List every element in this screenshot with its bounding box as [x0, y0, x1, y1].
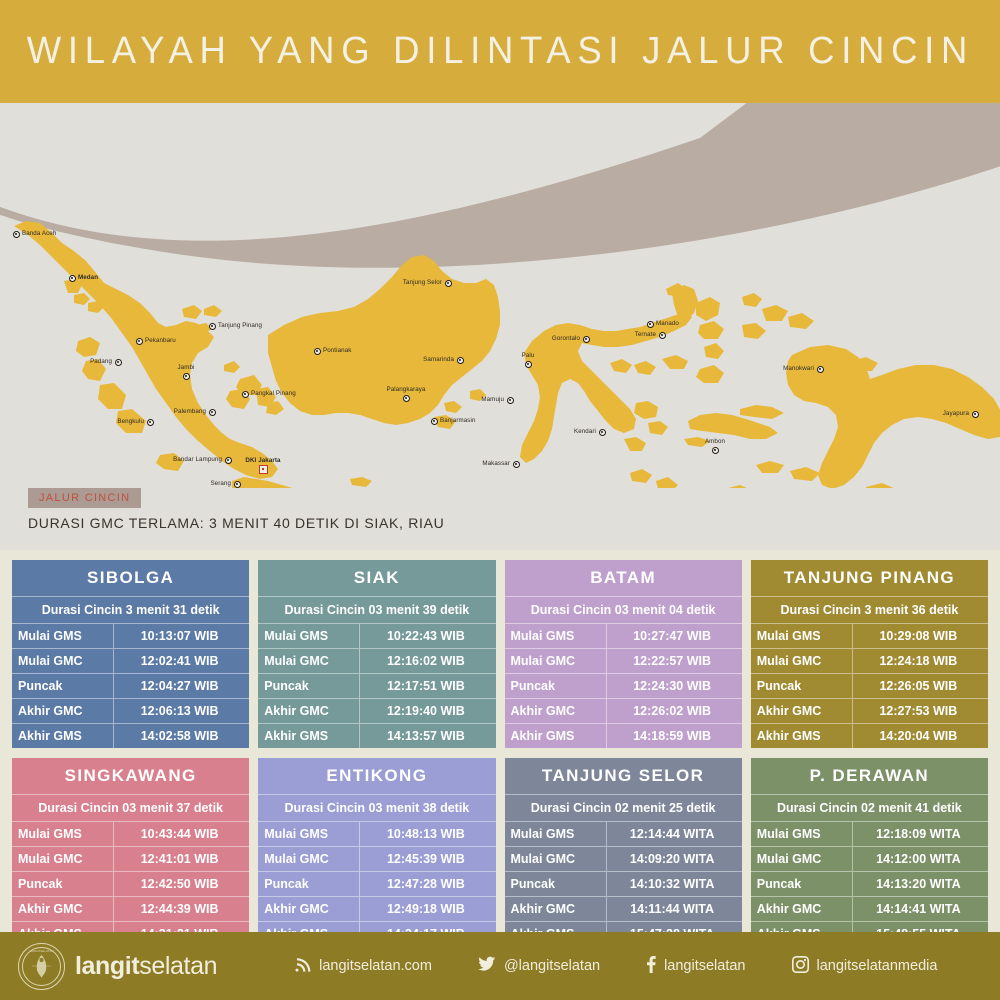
city-dot-icon: [513, 461, 520, 468]
row-label: Mulai GMC: [505, 649, 607, 673]
row-label: Puncak: [12, 872, 114, 896]
row-value: 12:06:13 WIB: [114, 699, 249, 723]
row-value: 10:29:08 WIB: [853, 624, 988, 648]
city-label: Palembang: [174, 408, 206, 415]
row-value: 14:10:32 WITA: [607, 872, 742, 896]
row-value: 12:41:01 WIB: [114, 847, 249, 871]
eclipse-path-band: [0, 103, 1000, 268]
map-caption-area: JALUR CINCIN DURASI GMC TERLAMA: 3 MENIT…: [0, 488, 1000, 550]
city-label: DKI Jakarta: [245, 457, 280, 464]
row-value: 10:43:44 WIB: [114, 822, 249, 846]
table-row: Mulai GMS10:29:08 WIB: [751, 624, 988, 649]
city-label: Makassar: [482, 460, 510, 467]
card-duration: Durasi Cincin 03 menit 38 detik: [258, 795, 495, 822]
card-title: SIAK: [258, 560, 495, 597]
social-link-label: langitselatan: [664, 958, 745, 974]
social-link-instagram[interactable]: langitselatanmedia: [792, 956, 938, 977]
table-row: Puncak12:42:50 WIB: [12, 872, 249, 897]
card-title: TANJUNG SELOR: [505, 758, 742, 795]
table-row: Mulai GMS10:22:43 WIB: [258, 624, 495, 649]
city-card: BATAMDurasi Cincin 03 menit 04 detikMula…: [505, 560, 742, 748]
card-title: P. DERAWAN: [751, 758, 988, 795]
row-label: Akhir GMS: [751, 724, 853, 748]
row-label: Mulai GMS: [12, 624, 114, 648]
page-title: WILAYAH YANG DILINTASI JALUR CINCIN: [26, 30, 973, 73]
row-label: Mulai GMS: [751, 624, 853, 648]
card-title: ENTIKONG: [258, 758, 495, 795]
row-value: 12:24:30 WIB: [607, 674, 742, 698]
city-dot-icon: [234, 481, 241, 488]
row-label: Puncak: [751, 674, 853, 698]
city-label: Pontianak: [323, 347, 351, 354]
card-duration: Durasi Cincin 03 menit 04 detik: [505, 597, 742, 624]
row-value: 10:13:07 WIB: [114, 624, 249, 648]
city-dot-icon: [445, 280, 452, 287]
city-dot-icon: [136, 338, 143, 345]
city-label: Manokwari: [783, 365, 814, 372]
city-dot-icon: [183, 373, 190, 380]
row-label: Puncak: [12, 674, 114, 698]
row-label: Akhir GMS: [505, 724, 607, 748]
table-row: Puncak12:17:51 WIB: [258, 674, 495, 699]
city-label: Manado: [656, 320, 679, 327]
row-label: Mulai GMS: [258, 624, 360, 648]
city-dot-icon: [712, 447, 719, 454]
table-row: Mulai GMS10:48:13 WIB: [258, 822, 495, 847]
row-value: 12:02:41 WIB: [114, 649, 249, 673]
row-label: Mulai GMS: [258, 822, 360, 846]
city-dot-icon: [817, 366, 824, 373]
city-dot-icon: [431, 418, 438, 425]
row-value: 12:14:44 WITA: [607, 822, 742, 846]
city-dot-icon: [583, 336, 590, 343]
row-label: Akhir GMC: [12, 699, 114, 723]
svg-text:LANGITSELATAN: LANGITSELATAN: [29, 949, 53, 953]
rss-icon: [295, 956, 311, 976]
table-row: Akhir GMC14:11:44 WITA: [505, 897, 742, 922]
city-card: TANJUNG SELORDurasi Cincin 02 menit 25 d…: [505, 758, 742, 946]
row-value: 12:47:28 WIB: [360, 872, 495, 896]
row-value: 10:27:47 WIB: [607, 624, 742, 648]
indonesia-map: Banda AcehMedanPekanbaruPadangJambiBengk…: [0, 103, 1000, 488]
city-dot-icon: [647, 321, 654, 328]
city-label: Gorontalo: [552, 335, 580, 342]
row-value: 12:17:51 WIB: [360, 674, 495, 698]
row-label: Akhir GMS: [12, 724, 114, 748]
card-title: SINGKAWANG: [12, 758, 249, 795]
row-value: 10:48:13 WIB: [360, 822, 495, 846]
card-duration: Durasi Cincin 03 menit 37 detik: [12, 795, 249, 822]
page-header: WILAYAH YANG DILINTASI JALUR CINCIN: [0, 0, 1000, 103]
row-value: 14:18:59 WIB: [607, 724, 742, 748]
city-dot-icon: [457, 357, 464, 364]
row-value: 10:22:43 WIB: [360, 624, 495, 648]
row-label: Mulai GMC: [258, 649, 360, 673]
langitselatan-seal-icon: LANGITSELATAN: [18, 943, 65, 990]
row-value: 12:44:39 WIB: [114, 897, 249, 921]
table-row: Mulai GMS12:14:44 WITA: [505, 822, 742, 847]
city-dot-icon: [314, 348, 321, 355]
brand-word-light: selatan: [139, 952, 217, 980]
city-label: Pekanbaru: [145, 337, 176, 344]
city-dot-icon: [69, 275, 76, 282]
row-label: Puncak: [258, 872, 360, 896]
city-card: ENTIKONGDurasi Cincin 03 menit 38 detikM…: [258, 758, 495, 946]
row-value: 12:42:50 WIB: [114, 872, 249, 896]
row-value: 12:22:57 WIB: [607, 649, 742, 673]
city-dot-icon: [115, 359, 122, 366]
city-label: Banjarmasin: [440, 417, 476, 424]
row-label: Puncak: [258, 674, 360, 698]
instagram-icon: [792, 956, 809, 977]
table-row: Akhir GMS14:02:58 WIB: [12, 724, 249, 748]
city-label: Medan: [78, 274, 98, 281]
table-row: Mulai GMC12:45:39 WIB: [258, 847, 495, 872]
kalimantan-landmass: [268, 255, 500, 425]
social-link-label: langitselatan.com: [319, 958, 432, 974]
table-row: Akhir GMC12:26:02 WIB: [505, 699, 742, 724]
row-value: 12:49:18 WIB: [360, 897, 495, 921]
city-label: Tanjung Selor: [403, 279, 442, 286]
row-label: Akhir GMC: [258, 699, 360, 723]
row-value: 14:13:20 WITA: [853, 872, 988, 896]
row-label: Akhir GMC: [258, 897, 360, 921]
city-dot-icon: [209, 323, 216, 330]
city-label: Palangkaraya: [386, 386, 425, 393]
table-row: Mulai GMS10:13:07 WIB: [12, 624, 249, 649]
capital-marker-icon: [259, 465, 268, 474]
city-label: Banda Aceh: [22, 230, 56, 237]
table-row: Mulai GMS10:27:47 WIB: [505, 624, 742, 649]
city-label: Bengkulu: [117, 418, 144, 425]
table-row: Akhir GMC14:14:41 WITA: [751, 897, 988, 922]
social-link-twitter[interactable]: @langitselatan: [478, 956, 600, 976]
social-links: langitselatan.com@langitselatanlangitsel…: [295, 956, 937, 977]
city-label: Kendari: [574, 428, 596, 435]
table-row: Puncak12:24:30 WIB: [505, 674, 742, 699]
city-card: TANJUNG PINANGDurasi Cincin 3 menit 36 d…: [751, 560, 988, 748]
social-link-label: @langitselatan: [504, 958, 600, 974]
brand-word-bold: langit: [75, 952, 139, 980]
city-card: SINGKAWANGDurasi Cincin 03 menit 37 deti…: [12, 758, 249, 946]
city-label: Palu: [522, 352, 535, 359]
card-duration: Durasi Cincin 02 menit 41 detik: [751, 795, 988, 822]
row-value: 12:45:39 WIB: [360, 847, 495, 871]
row-label: Puncak: [751, 872, 853, 896]
city-dot-icon: [225, 457, 232, 464]
city-dot-icon: [147, 419, 154, 426]
city-label: Samarinda: [423, 356, 454, 363]
row-label: Akhir GMC: [505, 699, 607, 723]
brand-wordmark: langitselatan: [75, 952, 217, 981]
brand-logo: LANGITSELATAN langitselatan: [18, 943, 217, 990]
row-value: 14:13:57 WIB: [360, 724, 495, 748]
city-dot-icon: [403, 395, 410, 402]
city-dot-icon: [507, 397, 514, 404]
table-row: Puncak12:47:28 WIB: [258, 872, 495, 897]
table-row: Akhir GMC12:19:40 WIB: [258, 699, 495, 724]
city-label: Tanjung Pinang: [218, 322, 262, 329]
row-value: 12:26:02 WIB: [607, 699, 742, 723]
city-dot-icon: [525, 361, 532, 368]
row-label: Mulai GMS: [505, 822, 607, 846]
map-caption-text: DURASI GMC TERLAMA: 3 MENIT 40 DETIK DI …: [28, 515, 1000, 531]
table-row: Mulai GMC12:16:02 WIB: [258, 649, 495, 674]
row-label: Akhir GMC: [751, 699, 853, 723]
table-row: Mulai GMC12:24:18 WIB: [751, 649, 988, 674]
card-duration: Durasi Cincin 02 menit 25 detik: [505, 795, 742, 822]
social-link-label: langitselatanmedia: [817, 958, 938, 974]
table-row: Akhir GMC12:27:53 WIB: [751, 699, 988, 724]
facebook-icon: [646, 956, 656, 977]
row-value: 12:27:53 WIB: [853, 699, 988, 723]
twitter-icon: [478, 956, 496, 976]
card-title: BATAM: [505, 560, 742, 597]
social-link-rss[interactable]: langitselatan.com: [295, 956, 432, 976]
card-duration: Durasi Cincin 03 menit 39 detik: [258, 597, 495, 624]
row-label: Mulai GMS: [751, 822, 853, 846]
city-card: SIBOLGADurasi Cincin 3 menit 31 detikMul…: [12, 560, 249, 748]
card-duration: Durasi Cincin 3 menit 31 detik: [12, 597, 249, 624]
card-title: SIBOLGA: [12, 560, 249, 597]
table-row: Mulai GMS10:43:44 WIB: [12, 822, 249, 847]
row-label: Mulai GMC: [258, 847, 360, 871]
row-label: Mulai GMS: [12, 822, 114, 846]
legend-jalur-cincin: JALUR CINCIN: [28, 488, 141, 508]
city-dot-icon: [659, 332, 666, 339]
table-row: Mulai GMC14:12:00 WITA: [751, 847, 988, 872]
row-value: 12:04:27 WIB: [114, 674, 249, 698]
city-card: P. DERAWANDurasi Cincin 02 menit 41 deti…: [751, 758, 988, 946]
row-value: 14:20:04 WIB: [853, 724, 988, 748]
city-dot-icon: [599, 429, 606, 436]
table-row: Akhir GMC12:06:13 WIB: [12, 699, 249, 724]
row-value: 14:09:20 WITA: [607, 847, 742, 871]
city-label: Bandar Lampung: [173, 456, 222, 463]
page-footer: LANGITSELATAN langitselatan langitselata…: [0, 932, 1000, 1000]
row-label: Mulai GMS: [505, 624, 607, 648]
card-duration: Durasi Cincin 3 menit 36 detik: [751, 597, 988, 624]
row-value: 12:19:40 WIB: [360, 699, 495, 723]
city-dot-icon: [209, 409, 216, 416]
row-label: Puncak: [505, 872, 607, 896]
row-label: Puncak: [505, 674, 607, 698]
row-label: Akhir GMC: [505, 897, 607, 921]
sulawesi-landmass: [520, 311, 692, 463]
row-value: 12:26:05 WIB: [853, 674, 988, 698]
city-label: Ternate: [635, 331, 656, 338]
city-label: Jambi: [177, 364, 194, 371]
table-row: Mulai GMC12:22:57 WIB: [505, 649, 742, 674]
table-row: Puncak12:04:27 WIB: [12, 674, 249, 699]
table-row: Mulai GMC12:41:01 WIB: [12, 847, 249, 872]
card-title: TANJUNG PINANG: [751, 560, 988, 597]
city-label: Serang: [210, 480, 231, 487]
row-label: Mulai GMC: [751, 847, 853, 871]
city-label: Pangkal Pinang: [251, 390, 296, 397]
row-value: 14:12:00 WITA: [853, 847, 988, 871]
row-label: Mulai GMC: [505, 847, 607, 871]
map-svg: [0, 103, 1000, 488]
city-timing-cards: SIBOLGADurasi Cincin 3 menit 31 detikMul…: [0, 550, 1000, 954]
row-value: 12:24:18 WIB: [853, 649, 988, 673]
row-value: 12:16:02 WIB: [360, 649, 495, 673]
infographic-page: WILAYAH YANG DILINTASI JALUR CINCIN: [0, 0, 1000, 1000]
table-row: Mulai GMC12:02:41 WIB: [12, 649, 249, 674]
city-card: SIAKDurasi Cincin 03 menit 39 detikMulai…: [258, 560, 495, 748]
table-row: Akhir GMC12:44:39 WIB: [12, 897, 249, 922]
row-value: 14:14:41 WITA: [853, 897, 988, 921]
table-row: Mulai GMC14:09:20 WITA: [505, 847, 742, 872]
table-row: Akhir GMS14:13:57 WIB: [258, 724, 495, 748]
row-value: 14:02:58 WIB: [114, 724, 249, 748]
row-label: Akhir GMC: [751, 897, 853, 921]
row-label: Mulai GMC: [12, 649, 114, 673]
city-dot-icon: [242, 391, 249, 398]
city-dot-icon: [13, 231, 20, 238]
row-value: 14:11:44 WITA: [607, 897, 742, 921]
row-label: Mulai GMC: [12, 847, 114, 871]
row-label: Mulai GMC: [751, 649, 853, 673]
row-value: 12:18:09 WITA: [853, 822, 988, 846]
row-label: Akhir GMC: [12, 897, 114, 921]
table-row: Akhir GMS14:18:59 WIB: [505, 724, 742, 748]
city-dot-icon: [972, 411, 979, 418]
city-label: Ambon: [705, 438, 725, 445]
table-row: Puncak14:13:20 WITA: [751, 872, 988, 897]
row-label: Akhir GMS: [258, 724, 360, 748]
city-label: Mamuju: [481, 396, 504, 403]
table-row: Akhir GMS14:20:04 WIB: [751, 724, 988, 748]
social-link-facebook[interactable]: langitselatan: [646, 956, 745, 977]
city-label: Jayapura: [943, 410, 969, 417]
table-row: Puncak12:26:05 WIB: [751, 674, 988, 699]
city-label: Padang: [90, 358, 112, 365]
table-row: Mulai GMS12:18:09 WITA: [751, 822, 988, 847]
table-row: Akhir GMC12:49:18 WIB: [258, 897, 495, 922]
table-row: Puncak14:10:32 WITA: [505, 872, 742, 897]
